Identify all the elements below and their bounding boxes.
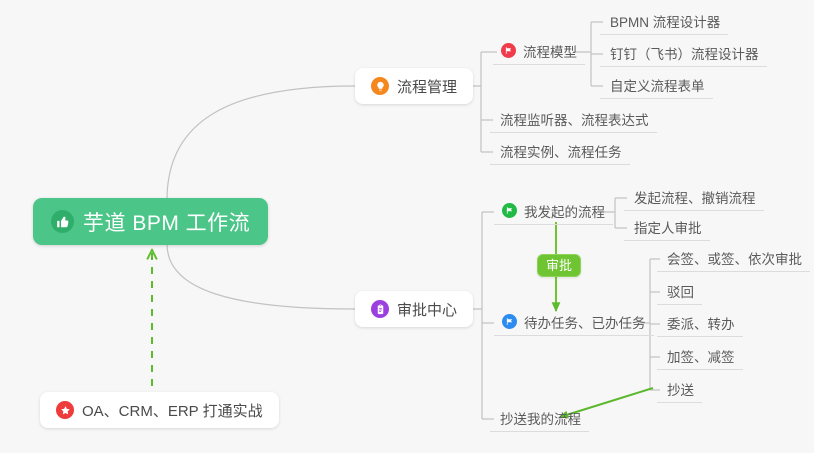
branch-approval-center[interactable]: 审批中心 (355, 291, 473, 327)
clipboard-icon (371, 300, 389, 318)
node-assignee-approval[interactable]: 指定人审批 (624, 216, 710, 241)
mindmap-canvas: 芋道 BPM 工作流 流程管理 流程模型 BPMN 流程设计器 钉钉（飞书）流程… (0, 0, 814, 453)
node-process-instance[interactable]: 流程实例、流程任务 (490, 140, 630, 165)
approve-badge: 审批 (537, 254, 581, 277)
node-todo-done-tasks[interactable]: 待办任务、已办任务 (494, 311, 654, 336)
node-cc[interactable]: 抄送 (657, 378, 702, 403)
flag-icon (501, 43, 516, 58)
node-process-model[interactable]: 流程模型 (493, 40, 585, 65)
node-delegate-transfer[interactable]: 委派、转办 (657, 312, 743, 337)
thumbs-up-icon (51, 210, 74, 233)
node-cc-to-me[interactable]: 抄送我的流程 (490, 407, 589, 432)
node-start-cancel-flow[interactable]: 发起流程、撤销流程 (624, 186, 764, 211)
node-label: 流程模型 (523, 41, 577, 61)
node-label: BPMN 流程设计器 (610, 11, 720, 31)
node-label: 委派、转办 (667, 313, 735, 333)
node-label: 钉钉（飞书）流程设计器 (610, 43, 759, 63)
node-label: 流程监听器、流程表达式 (500, 109, 649, 129)
root-label: 芋道 BPM 工作流 (83, 207, 250, 237)
node-label: 抄送我的流程 (500, 408, 581, 428)
node-label: 驳回 (667, 281, 694, 301)
lightbulb-icon (371, 77, 389, 95)
node-label: 抄送 (667, 379, 694, 399)
node-dingtalk-designer[interactable]: 钉钉（飞书）流程设计器 (600, 42, 767, 67)
root-node[interactable]: 芋道 BPM 工作流 (33, 198, 268, 245)
bottom-note-label: OA、CRM、ERP 打通实战 (82, 400, 263, 421)
branch-label: 审批中心 (397, 299, 457, 320)
node-process-listener[interactable]: 流程监听器、流程表达式 (490, 108, 657, 133)
node-label: 发起流程、撤销流程 (634, 187, 756, 207)
node-label: 指定人审批 (634, 217, 702, 237)
flag-icon (502, 314, 517, 329)
node-label: 会签、或签、依次审批 (667, 248, 802, 268)
node-bpmn-designer[interactable]: BPMN 流程设计器 (600, 10, 728, 35)
node-label: 我发起的流程 (524, 201, 605, 221)
node-label: 待办任务、已办任务 (524, 312, 646, 332)
node-countersign[interactable]: 会签、或签、依次审批 (657, 247, 810, 272)
node-custom-form[interactable]: 自定义流程表单 (600, 74, 713, 99)
branch-label: 流程管理 (397, 76, 457, 97)
branch-process-management[interactable]: 流程管理 (355, 68, 473, 104)
flag-icon (502, 203, 517, 218)
bottom-note-oa-crm-erp[interactable]: OA、CRM、ERP 打通实战 (40, 392, 279, 428)
node-my-initiated[interactable]: 我发起的流程 (494, 200, 613, 225)
node-label: 加签、减签 (667, 346, 735, 366)
star-icon (56, 401, 74, 419)
node-label: 自定义流程表单 (610, 75, 705, 95)
node-label: 流程实例、流程任务 (500, 141, 622, 161)
node-add-remove-sign[interactable]: 加签、减签 (657, 345, 743, 370)
node-reject[interactable]: 驳回 (657, 280, 702, 305)
